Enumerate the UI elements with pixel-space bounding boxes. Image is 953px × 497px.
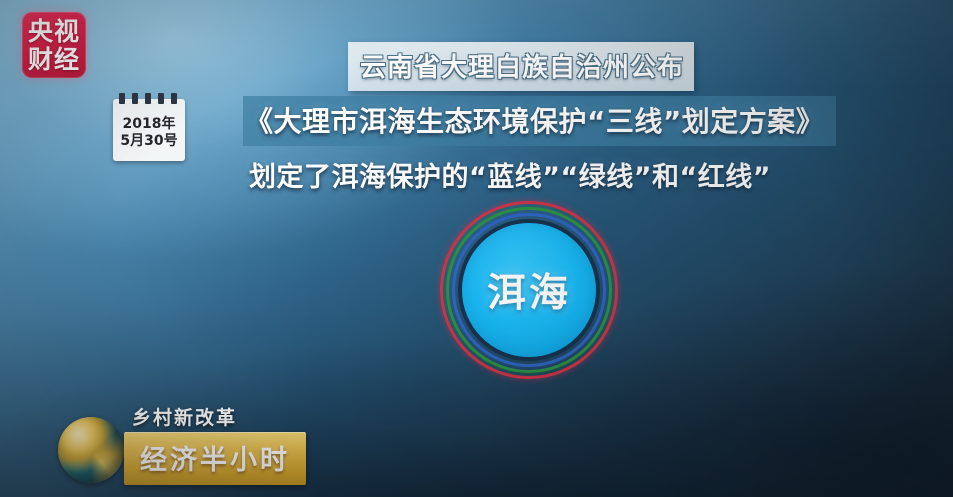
calendar-body: 2018年 5月30号 — [113, 99, 185, 161]
calendar-ring — [119, 93, 125, 104]
cctv-finance-logo: 央视 财经 — [22, 12, 86, 78]
calendar-day-text: 5月30号 — [120, 133, 177, 151]
lake-core-label: 洱海 — [487, 262, 571, 318]
program-subtitle: 乡村新改革 — [132, 403, 237, 430]
headline-line-2: 《大理市洱海生态环境保护“三线”划定方案》 — [243, 96, 836, 146]
calendar-ring — [145, 93, 151, 104]
calendar-ring — [158, 93, 164, 104]
calendar-icon: 2018年 5月30号 — [113, 93, 185, 163]
program-title-bar: 经济半小时 — [124, 432, 306, 485]
lake-core-circle: 洱海 — [462, 223, 596, 357]
calendar-ring — [171, 93, 177, 104]
calendar-binding-rings — [119, 93, 177, 104]
program-title-text: 经济半小时 — [140, 445, 290, 476]
logo-text-line2: 财经 — [28, 47, 80, 72]
headline-line-3: 划定了洱海保护的“蓝线”“绿线”和“红线” — [249, 155, 843, 194]
three-line-ring-diagram: 洱海 — [440, 201, 618, 379]
headline-line-1: 云南省大理白族自治州公布 — [348, 42, 694, 91]
calendar-year-text: 2018年 — [123, 116, 176, 134]
globe-icon — [58, 417, 124, 483]
program-bug: 乡村新改革 经济半小时 — [58, 403, 318, 489]
headline-block: 云南省大理白族自治州公布 《大理市洱海生态环境保护“三线”划定方案》 划定了洱海… — [243, 42, 843, 194]
calendar-ring — [132, 93, 138, 104]
logo-text-line1: 央视 — [28, 19, 80, 44]
broadcast-frame: 央视 财经 2018年 5月30号 云南省大理白族自治州公布 《大理市洱海生态环… — [0, 0, 953, 497]
